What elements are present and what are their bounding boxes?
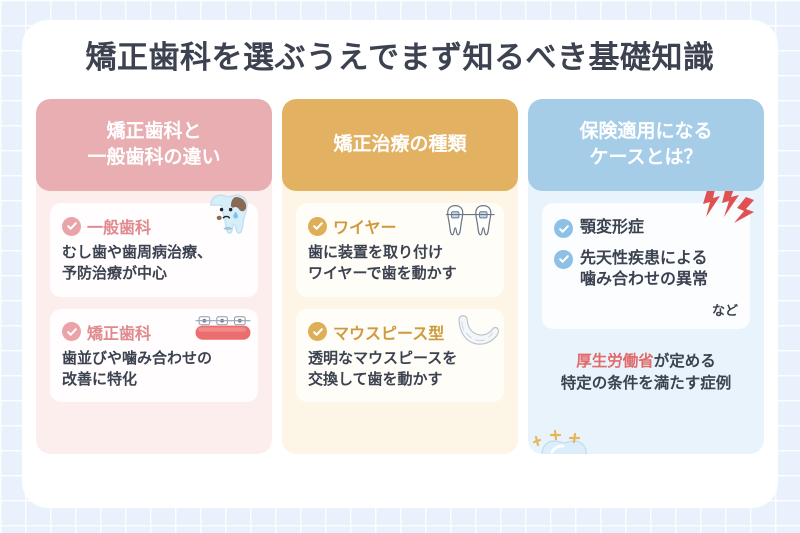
item-label-general-dentistry: 一般歯科	[87, 214, 151, 238]
item-label-wire: ワイヤー	[333, 214, 397, 238]
item-head-aligner: マウスピース型	[308, 320, 492, 344]
footnote-line2: 特定の条件を満たす症例	[561, 375, 732, 392]
item-card-aligner: マウスピース型 透明なマウスピースを 交換して歯を動かす	[296, 309, 504, 403]
item-head-general-dentistry: 一般歯科	[62, 214, 246, 238]
panel-body-treatment-types: ワイヤー 歯に装置を取り付け ワイヤーで歯を動かす	[282, 177, 518, 454]
panel-treatment-types: 矯正治療の種類 ワイヤー 歯に装置を取り付け ワイヤーで歯を動かす	[282, 99, 518, 454]
item-label-aligner: マウスピース型	[333, 320, 444, 344]
insurance-condition-list: 顎変形症 先天性疾患による 噛み合わせの異常 など	[542, 203, 750, 329]
item-card-general-dentistry: 一般歯科 むし歯や歯周病治療、 予防治療が中心	[50, 203, 258, 297]
list-item: 先天性疾患による 噛み合わせの異常	[554, 248, 738, 291]
list-suffix-etc: など	[554, 300, 738, 319]
item-text-orthodontics: 歯並びや噛み合わせの 改善に特化	[62, 348, 246, 391]
insurance-footnote: 厚生労働省が定める 特定の条件を満たす症例	[542, 351, 750, 396]
panel-difference: 矯正歯科と 一般歯科の違い 一般歯科 むし歯や歯周病治療、 予防治療が中心	[36, 99, 272, 454]
panel-header-insurance-cases: 保険適用になる ケースとは？	[528, 99, 764, 191]
check-circle-icon	[554, 219, 573, 238]
item-text-aligner: 透明なマウスピースを 交換して歯を動かす	[308, 348, 492, 391]
shiny-tooth-icon	[528, 426, 600, 454]
check-circle-icon	[308, 322, 327, 341]
infographic-canvas: 矯正歯科を選ぶうえでまず知るべき基礎知識 矯正歯科と 一般歯科の違い 一般歯科 …	[0, 0, 800, 533]
item-card-orthodontics: 矯正歯科 歯並びや噛み合わせの 改善に特化	[50, 309, 258, 403]
item-head-orthodontics: 矯正歯科	[62, 320, 246, 344]
item-head-wire: ワイヤー	[308, 214, 492, 238]
check-circle-icon	[62, 217, 81, 236]
panel-header-treatment-types: 矯正治療の種類	[282, 99, 518, 191]
check-circle-icon	[308, 217, 327, 236]
item-label-orthodontics: 矯正歯科	[87, 320, 151, 344]
item-text-general-dentistry: むし歯や歯周病治療、 予防治療が中心	[62, 242, 246, 285]
list-item-label-congenital-disease: 先天性疾患による 噛み合わせの異常	[580, 248, 708, 291]
panel-body-insurance-cases: 顎変形症 先天性疾患による 噛み合わせの異常 など	[528, 177, 764, 454]
panel-body-difference: 一般歯科 むし歯や歯周病治療、 予防治療が中心	[36, 177, 272, 454]
item-text-wire: 歯に装置を取り付け ワイヤーで歯を動かす	[308, 242, 492, 285]
list-item-label-jaw-deformity: 顎変形症	[580, 217, 644, 239]
list-item: 顎変形症	[554, 217, 738, 239]
footnote-highlight: 厚生労働省	[576, 353, 654, 370]
panel-insurance-cases: 保険適用になる ケースとは？ 顎変形症 先天性疾患による 噛み合わせの異常	[528, 99, 764, 454]
panel-header-difference: 矯正歯科と 一般歯科の違い	[36, 99, 272, 191]
check-circle-icon	[62, 322, 81, 341]
item-card-wire: ワイヤー 歯に装置を取り付け ワイヤーで歯を動かす	[296, 203, 504, 297]
page-title: 矯正歯科を選ぶうえでまず知るべき基礎知識	[0, 32, 800, 77]
footnote-rest: が定める	[654, 353, 716, 370]
columns-container: 矯正歯科と 一般歯科の違い 一般歯科 むし歯や歯周病治療、 予防治療が中心	[36, 99, 764, 454]
check-circle-icon	[554, 250, 573, 269]
